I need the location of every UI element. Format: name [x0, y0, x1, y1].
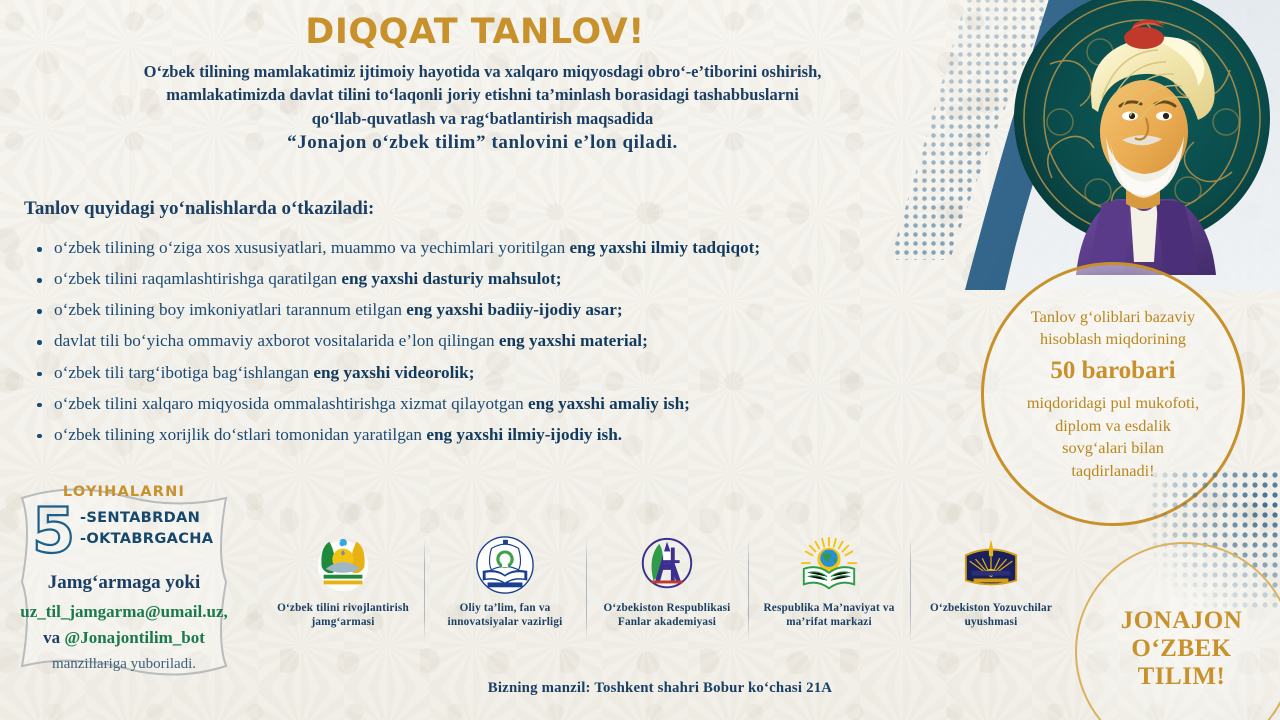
- submit-to-label: Jamg‘armaga yoki: [8, 572, 240, 594]
- list-item-emphasis: eng yaxshi ilmiy-ijodiy ish.: [426, 425, 622, 444]
- date-to: -OKTABRGACHA: [80, 529, 213, 550]
- contact-email[interactable]: uz_til_jamgarma@umail.uz,: [8, 602, 240, 622]
- list-item-text: davlat tili bo‘yicha ommaviy axborot vos…: [54, 331, 499, 350]
- partner-logo-cell: O‘zbekiston Respublikasi Fanlar akademiy…: [586, 534, 748, 630]
- partner-logo-caption: O‘zbekiston Yozuvchilar uyushmasi: [916, 601, 1066, 630]
- list-item-emphasis: eng yaxshi amaliy ish;: [528, 394, 690, 413]
- lead-line-3: qo‘llab-quvatlash va rag‘batlantirish ma…: [60, 107, 905, 130]
- prize-text: Tanlov g‘oliblari bazaviy hisoblash miqd…: [995, 306, 1231, 482]
- academy-of-sciences-icon: [636, 534, 698, 596]
- slogan-badge: JONAJON O‘ZBEK TILIM!: [1075, 542, 1280, 720]
- writers-union-icon: [960, 534, 1022, 596]
- slogan-text: JONAJON O‘ZBEK TILIM!: [1092, 607, 1272, 691]
- prize-line-2: hisoblash miqdorining: [1040, 329, 1186, 348]
- alisher-navoi-portrait: [980, 0, 1280, 275]
- poster-canvas: DIQQAT TANLOV! O‘zbek tilining mamlakati…: [0, 0, 1280, 720]
- partner-logo-cell: O‘zbek tilini rivojlantirish jamg‘armasi: [262, 534, 424, 630]
- slogan-line-3: TILIM!: [1092, 663, 1272, 691]
- higher-education-ministry-icon: [474, 534, 536, 596]
- list-item-emphasis: eng yaxshi badiiy-ijodiy asar;: [406, 300, 622, 319]
- list-item-emphasis: eng yaxshi ilmiy tadqiqot;: [570, 238, 761, 257]
- list-item-text: o‘zbek tilining o‘ziga xos xususiyatlari…: [54, 238, 570, 257]
- list-item-emphasis: eng yaxshi dasturiy mahsulot;: [341, 269, 561, 288]
- deadline-number: 5: [32, 500, 75, 562]
- partner-logo-caption: O‘zbek tilini rivojlantirish jamg‘armasi: [268, 601, 418, 630]
- plaque-footnote: manzillariga yuboriladi.: [8, 656, 240, 673]
- bot-prefix: va: [43, 628, 64, 647]
- list-item-text: o‘zbek tilini xalqaro miqyosida ommalash…: [54, 394, 528, 413]
- category-list-item: o‘zbek tili targ‘ibotiga bag‘ishlangan e…: [32, 363, 937, 384]
- category-list-item: o‘zbek tilini xalqaro miqyosida ommalash…: [32, 394, 937, 415]
- poster-lead-paragraph: O‘zbek tilining mamlakatimiz ijtimoiy ha…: [60, 60, 905, 157]
- address-line: Bizning manzil: Toshkent shahri Bobur ko…: [330, 680, 990, 697]
- prize-line-1: Tanlov g‘oliblari bazaviy: [1031, 307, 1195, 326]
- partner-logo-cell: Respublika Ma’naviyat va ma’rifat markaz…: [748, 534, 910, 630]
- partner-logo-caption: Oliy ta’lim, fan va innovatsiyalar vazir…: [430, 601, 580, 630]
- lead-quote-line: “Jonajon o‘zbek tilim” tanlovini e’lon q…: [60, 130, 905, 157]
- deadline-contact-plaque: LOYIHALARNI 5 -SENTABRDAN -OKTABRGACHA J…: [8, 478, 240, 686]
- prize-badge: Tanlov g‘oliblari bazaviy hisoblash miqd…: [981, 262, 1245, 526]
- list-item-emphasis: eng yaxshi material;: [499, 331, 648, 350]
- date-from: -SENTABRDAN: [80, 508, 213, 529]
- partner-logo-cell: O‘zbekiston Yozuvchilar uyushmasi: [910, 534, 1072, 630]
- deadline-range: -SENTABRDAN -OKTABRGACHA: [80, 508, 213, 549]
- category-list: o‘zbek tilining o‘ziga xos xususiyatlari…: [32, 238, 937, 456]
- list-item-text: o‘zbek tilining boy imkoniyatlari tarann…: [54, 300, 406, 319]
- lead-line-2: mamlakatimizda davlat tilini to‘laqonli …: [60, 83, 905, 106]
- list-item-text: o‘zbek tilini raqamlashtirishga qaratilg…: [54, 269, 341, 288]
- lead-line-1: O‘zbek tilining mamlakatimiz ijtimoiy ha…: [60, 60, 905, 83]
- category-list-item: o‘zbek tilining boy imkoniyatlari tarann…: [32, 300, 937, 321]
- prize-line-5: sovg‘alari bilan: [1062, 438, 1164, 457]
- uzbekistan-emblem-icon: [312, 534, 374, 596]
- prize-line-6: taqdirlanadi!: [1071, 461, 1154, 480]
- poster-title: DIQQAT TANLOV!: [0, 12, 950, 52]
- list-item-text: o‘zbek tili targ‘ibotiga bag‘ishlangan: [54, 363, 313, 382]
- category-list-item: o‘zbek tilining o‘ziga xos xususiyatlari…: [32, 238, 937, 259]
- partner-logos-row: O‘zbek tilini rivojlantirish jamg‘armasi…: [262, 534, 1072, 664]
- list-item-text: o‘zbek tilining xorijlik do‘stlari tomon…: [54, 425, 426, 444]
- section-title: Tanlov quyidagi yo‘nalishlarda o‘tkazila…: [24, 198, 374, 220]
- slogan-line-2: O‘ZBEK: [1092, 635, 1272, 663]
- category-list-item: davlat tili bo‘yicha ommaviy axborot vos…: [32, 331, 937, 352]
- partner-logo-caption: O‘zbekiston Respublikasi Fanlar akademiy…: [592, 601, 742, 630]
- partner-logo-cell: Oliy ta’lim, fan va innovatsiyalar vazir…: [424, 534, 586, 630]
- partner-logo-caption: Respublika Ma’naviyat va ma’rifat markaz…: [754, 601, 904, 630]
- category-list-item: o‘zbek tilining xorijlik do‘stlari tomon…: [32, 425, 937, 446]
- spirituality-center-book-icon: [798, 534, 860, 596]
- prize-line-4: diplom va esdalik: [1055, 416, 1171, 435]
- list-item-emphasis: eng yaxshi videorolik;: [313, 363, 474, 382]
- contact-telegram-bot[interactable]: va @Jonajontilim_bot: [8, 628, 240, 648]
- bot-handle[interactable]: @Jonajontilim_bot: [64, 628, 205, 647]
- slogan-line-1: JONAJON: [1092, 607, 1272, 635]
- category-list-item: o‘zbek tilini raqamlashtirishga qaratilg…: [32, 269, 937, 290]
- prize-line-3: miqdoridagi pul mukofoti,: [1027, 393, 1199, 412]
- prize-amount: 50 barobari: [995, 354, 1231, 389]
